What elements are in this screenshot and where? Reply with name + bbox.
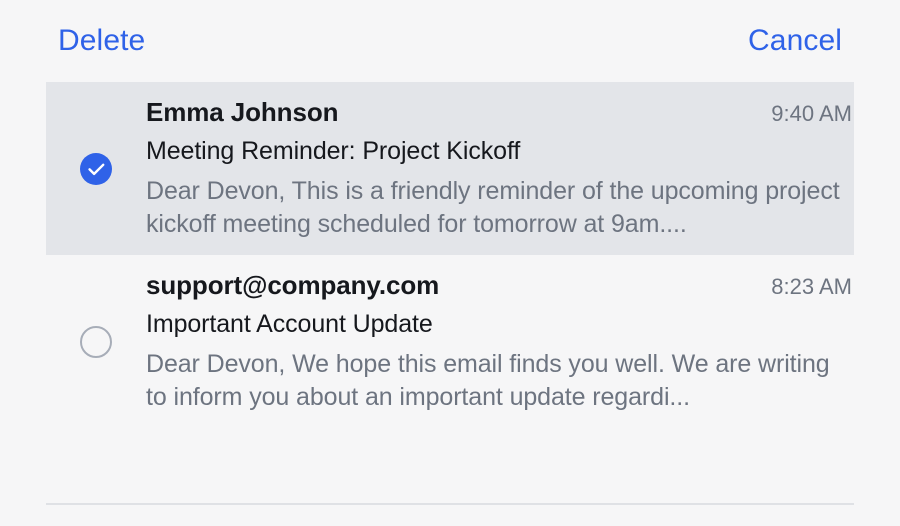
select-control-gutter [46,326,146,358]
message-header-line: support@company.com 8:23 AM [146,270,852,301]
message-list: Emma Johnson 9:40 AM Meeting Reminder: P… [0,82,900,428]
message-list-item[interactable]: support@company.com 8:23 AM Important Ac… [46,255,854,428]
selection-toolbar: Delete Cancel [0,0,900,82]
message-subject: Meeting Reminder: Project Kickoff [146,137,852,167]
list-bottom-divider [46,503,854,505]
message-content: support@company.com 8:23 AM Important Ac… [146,270,854,414]
select-control-gutter [46,153,146,185]
message-preview: Dear Devon, We hope this email finds you… [146,348,852,414]
message-list-item[interactable]: Emma Johnson 9:40 AM Meeting Reminder: P… [46,82,854,255]
message-content: Emma Johnson 9:40 AM Meeting Reminder: P… [146,97,854,241]
delete-button[interactable]: Delete [58,26,145,56]
message-timestamp: 8:23 AM [771,274,852,300]
circle-outline-icon[interactable] [80,326,112,358]
sender-name: support@company.com [146,270,439,301]
message-timestamp: 9:40 AM [771,101,852,127]
sender-name: Emma Johnson [146,97,338,128]
message-preview: Dear Devon, This is a friendly reminder … [146,175,852,241]
message-subject: Important Account Update [146,310,852,340]
cancel-button[interactable]: Cancel [748,26,842,56]
email-selection-screen: Delete Cancel Emma Johnson 9:40 AM Meeti… [0,0,900,526]
message-header-line: Emma Johnson 9:40 AM [146,97,852,128]
check-circle-filled-icon[interactable] [80,153,112,185]
